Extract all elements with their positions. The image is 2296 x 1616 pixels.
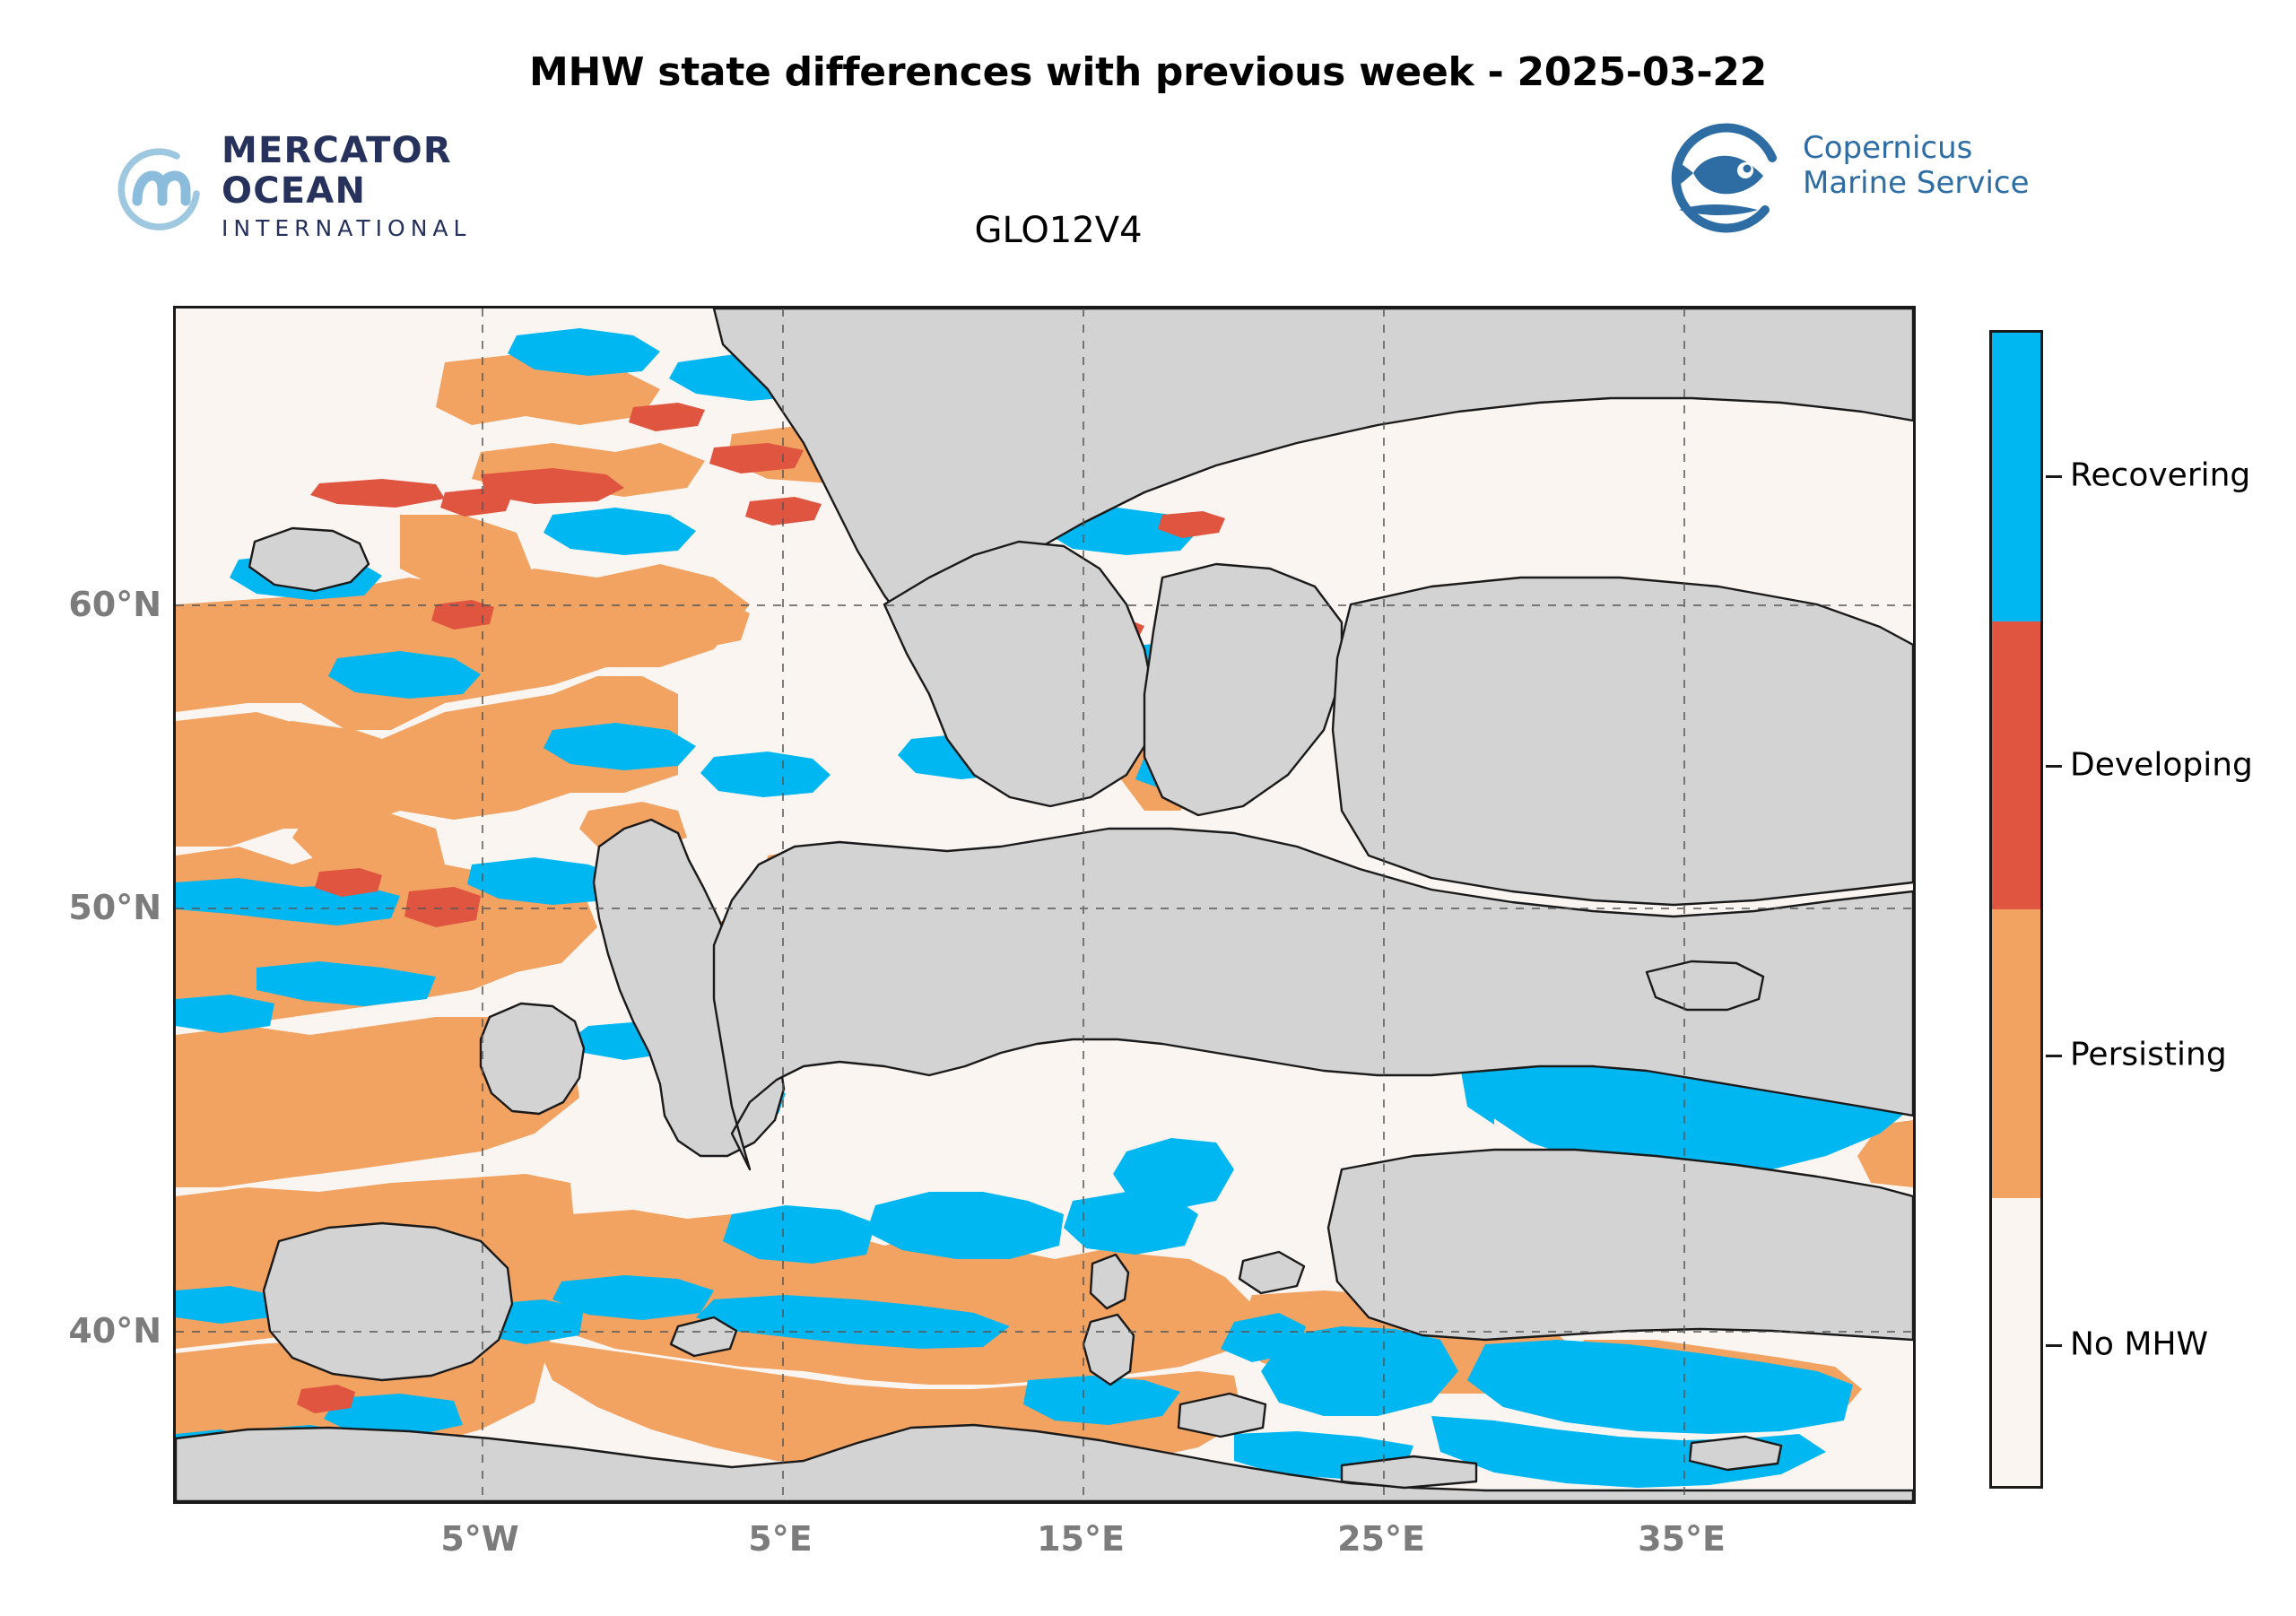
xtick-label-25E: 25°E [1291, 1519, 1471, 1559]
mhw-state-colorbar [1989, 330, 2043, 1489]
xtick-label-35E: 35°E [1592, 1519, 1771, 1559]
ytick-label-60N: 60°N [0, 585, 161, 624]
copernicus-marine-service-logo: Copernicus Marine Service [1659, 117, 2161, 233]
mhw-state-map [176, 308, 1913, 1501]
mercator-circle-m-icon [112, 138, 209, 235]
colorbar-segment-developing [1992, 621, 2040, 910]
cyprus [1690, 1437, 1781, 1470]
colorbar-tick-persisting [2046, 1055, 2062, 1057]
anatolia [1328, 1150, 1913, 1340]
russia-west [1333, 578, 1913, 905]
copernicus-fish-circle-icon [1659, 117, 1785, 233]
colorbar-segment-recovering [1992, 333, 2040, 621]
iberian-peninsula [264, 1223, 512, 1380]
figure-title: MHW state differences with previous week… [0, 49, 2296, 95]
colorbar-label-no-mhw: No MHW [2070, 1326, 2208, 1363]
copernicus-line2: Marine Service [1803, 166, 2030, 201]
xtick-label-5W: 5°W [390, 1519, 570, 1559]
model-subtitle: GLO12V4 [843, 210, 1274, 251]
mercator-line2: OCEAN [222, 173, 471, 209]
map-plot-area [173, 306, 1916, 1504]
colorbar-segment-persisting [1992, 909, 2040, 1198]
mercator-wordmark: MERCATOR OCEAN INTERNATIONAL [222, 133, 471, 239]
figure-root: MHW state differences with previous week… [0, 0, 2296, 1616]
xtick-label-15E: 15°E [991, 1519, 1170, 1559]
ytick-label-40N: 40°N [0, 1311, 161, 1351]
colorbar-tick-no-mhw [2046, 1344, 2062, 1347]
colorbar-label-persisting: Persisting [2070, 1037, 2227, 1073]
mercator-line1: MERCATOR [222, 133, 471, 169]
colorbar-tick-developing [2046, 765, 2062, 768]
colorbar-segment-no-mhw [1992, 1198, 2040, 1487]
xtick-label-5E: 5°E [691, 1519, 870, 1559]
mercator-ocean-logo: MERCATOR OCEAN INTERNATIONAL [112, 133, 489, 240]
colorbar-label-developing: Developing [2070, 747, 2253, 784]
ytick-label-50N: 50°N [0, 888, 161, 927]
mercator-line3: INTERNATIONAL [222, 217, 471, 239]
copernicus-line1: Copernicus [1803, 131, 2030, 166]
colorbar-label-recovering: Recovering [2070, 457, 2250, 494]
colorbar-tick-recovering [2046, 475, 2062, 478]
copernicus-wordmark: Copernicus Marine Service [1803, 131, 2030, 201]
